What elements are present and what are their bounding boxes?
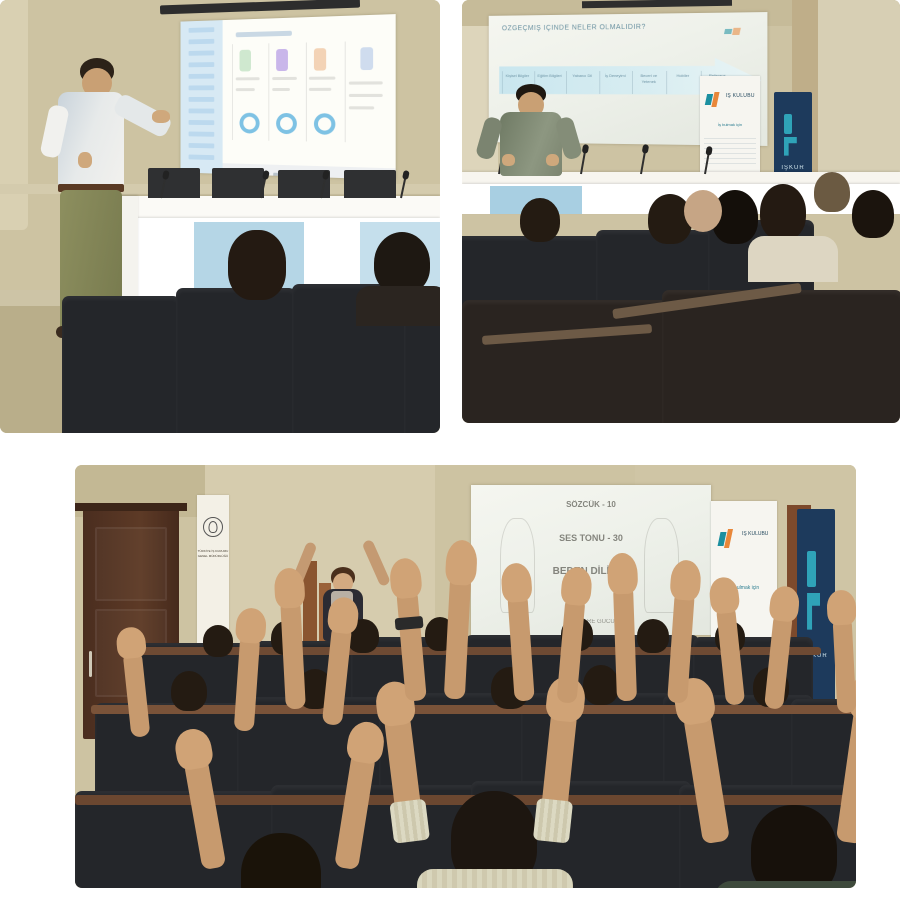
- card-line: [272, 76, 297, 79]
- audience-head: [760, 184, 806, 240]
- audience-head: [583, 665, 619, 705]
- card-progress-ring: [240, 113, 260, 134]
- dashboard-card: [232, 44, 264, 141]
- audience-head: [637, 619, 669, 653]
- desk-chair: [344, 170, 396, 198]
- dashboard-card: [344, 41, 393, 144]
- auditorium-seat: [176, 288, 296, 433]
- seat-armrest: [91, 705, 856, 714]
- dashboard-body: [222, 14, 395, 180]
- wristwatch: [395, 616, 424, 630]
- auditorium-seat: [662, 290, 900, 423]
- speaker-left-hand: [502, 154, 515, 166]
- projection-screen: [181, 14, 396, 180]
- photo-top-right: ÖZGEÇMİŞ İÇİNDE NELER OLMALIDIR? Kişisel…: [462, 0, 900, 423]
- auditorium-seat: [462, 300, 682, 423]
- shoulders: [417, 869, 573, 888]
- dashboard-card: [306, 42, 340, 142]
- wall-banner-text: TÜRKİYE İŞ KURUMU GENEL MÜDÜRLÜĞÜ: [197, 549, 229, 558]
- auditorium-seat: [95, 703, 245, 803]
- card-progress-ring: [314, 114, 336, 136]
- desk-chair: [212, 168, 264, 198]
- dashboard-card: [268, 43, 301, 142]
- audience-head: [228, 230, 286, 300]
- card-line: [349, 82, 382, 85]
- cv-box: Beceri ve Yetenek: [632, 71, 664, 94]
- hand: [235, 607, 267, 644]
- slide-line-word: SÖZCÜK - 10: [471, 500, 711, 509]
- cv-box: Hobiler: [666, 71, 698, 94]
- card-progress-ring: [276, 113, 297, 134]
- slide-logo: [724, 27, 759, 37]
- iskur-logo-icon: [706, 91, 722, 108]
- card-line: [309, 76, 335, 79]
- card-icon: [360, 47, 372, 70]
- head: [751, 805, 837, 888]
- audience-shoulders: [748, 236, 838, 282]
- audience-head: [852, 190, 894, 238]
- audience-head: [171, 671, 207, 711]
- photo-top-left: [0, 0, 440, 433]
- door-handle: [89, 651, 92, 677]
- white-rollup-subtitle: İş bulmak için: [702, 122, 757, 127]
- card-line: [349, 106, 374, 109]
- wall-left-column: [0, 0, 28, 230]
- card-line: [349, 94, 382, 97]
- raised-hand: [613, 585, 637, 702]
- dashboard-heading-line: [235, 30, 292, 37]
- white-rollup-banner: İŞ KULÜBÜ İş bulmak için: [700, 76, 760, 172]
- speaker-shirt: [500, 112, 562, 176]
- shirt-cuff: [533, 798, 573, 844]
- emblem-inner: [209, 521, 218, 533]
- dark-rollup-title: İŞKUR: [774, 165, 812, 171]
- door-frame: [75, 503, 187, 511]
- card-line: [309, 88, 331, 91]
- cv-box: İş Deneyimi: [599, 71, 631, 94]
- door-panel: [95, 527, 167, 601]
- iskur-logo-icon: [719, 528, 735, 551]
- card-icon: [240, 50, 251, 71]
- audience-head: [203, 625, 233, 657]
- photo-bottom-wide: TÜRKİYE İŞ KURUMU GENEL MÜDÜRLÜĞÜ SÖZCÜK…: [75, 465, 856, 888]
- head: [241, 833, 321, 888]
- conference-room-scene-2: ÖZGEÇMİŞ İÇİNDE NELER OLMALIDIR? Kişisel…: [462, 0, 900, 423]
- audience-head: [520, 198, 560, 242]
- card-line: [235, 77, 259, 80]
- speaker-right-hand: [78, 152, 92, 168]
- shirt-cuff: [390, 799, 430, 844]
- white-rollup-title: İŞ KULÜBÜ: [723, 93, 758, 99]
- speaker-left-hand: [152, 110, 170, 123]
- foreground-attendee-checked-shirt: [373, 765, 603, 888]
- hand: [445, 540, 478, 586]
- slide-dashboard: [181, 14, 396, 180]
- speaker-right-hand: [546, 154, 559, 166]
- audience-head: [814, 172, 850, 212]
- card-line: [272, 88, 290, 91]
- audience-shoulders: [356, 286, 440, 326]
- photo-collage: ÖZGEÇMİŞ İÇİNDE NELER OLMALIDIR? Kişisel…: [0, 0, 900, 900]
- audience-person: [684, 190, 722, 232]
- dashboard-sidebar: [181, 20, 223, 174]
- iskur-logo-icon: [724, 27, 759, 37]
- conference-room-scene-1: [0, 0, 440, 433]
- speaker-2: [484, 84, 594, 184]
- hand: [769, 585, 801, 622]
- white-rollup-title: İŞ KULÜBÜ: [736, 531, 774, 537]
- foreground-attendee-right: [679, 771, 856, 888]
- iskur-mark-icon: [805, 545, 826, 637]
- slide-title: ÖZGEÇMİŞ İÇİNDE NELER OLMALIDIR?: [502, 23, 744, 33]
- card-icon: [314, 48, 326, 70]
- card-icon: [276, 49, 288, 71]
- conference-room-scene-3: TÜRKİYE İŞ KURUMU GENEL MÜDÜRLÜĞÜ SÖZCÜK…: [75, 465, 856, 888]
- hand: [827, 589, 856, 625]
- forearm: [613, 585, 637, 702]
- hand: [560, 566, 593, 607]
- auditorium-seat: [62, 296, 180, 433]
- card-line: [235, 88, 254, 91]
- foreground-attendee-left: [193, 793, 373, 888]
- shoulders: [715, 881, 856, 888]
- iskur-mark-icon: [782, 111, 803, 159]
- audience-head: [374, 232, 430, 294]
